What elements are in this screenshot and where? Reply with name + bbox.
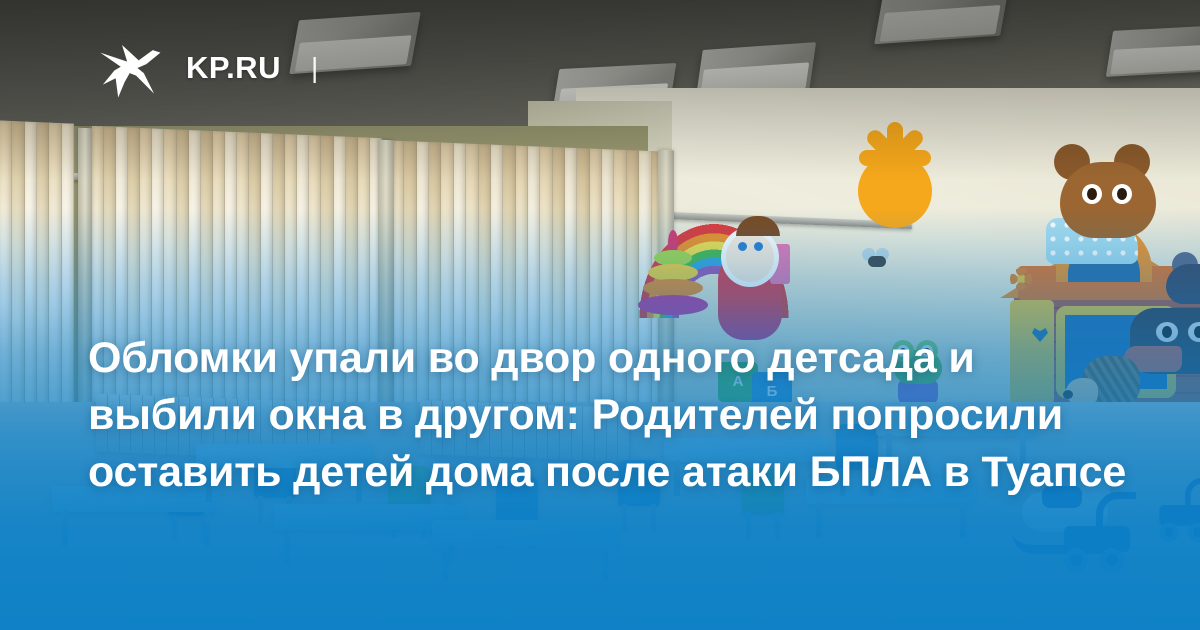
window-blinds — [0, 120, 74, 419]
brand-name: KP.RU — [186, 50, 281, 86]
matryoshka-doll-icon — [718, 248, 782, 340]
toy-pyramid-icon — [638, 248, 708, 324]
brand-logo-group[interactable]: KP.RU | — [98, 36, 318, 100]
toy-stroller — [1155, 478, 1200, 540]
sun-icon — [858, 154, 932, 228]
ceiling-lamp — [1106, 25, 1200, 77]
headline-text: Обломки упали во двор одного детсада и в… — [88, 330, 1128, 501]
wolf-icon — [1130, 300, 1200, 392]
brand-separator: | — [311, 52, 318, 84]
social-share-card: A Б — [0, 0, 1200, 630]
swallow-bird-icon — [98, 36, 164, 100]
child-table — [432, 520, 618, 546]
bear-icon — [1052, 144, 1168, 244]
toy-stroller — [1058, 492, 1144, 570]
fly-icon — [862, 248, 892, 270]
